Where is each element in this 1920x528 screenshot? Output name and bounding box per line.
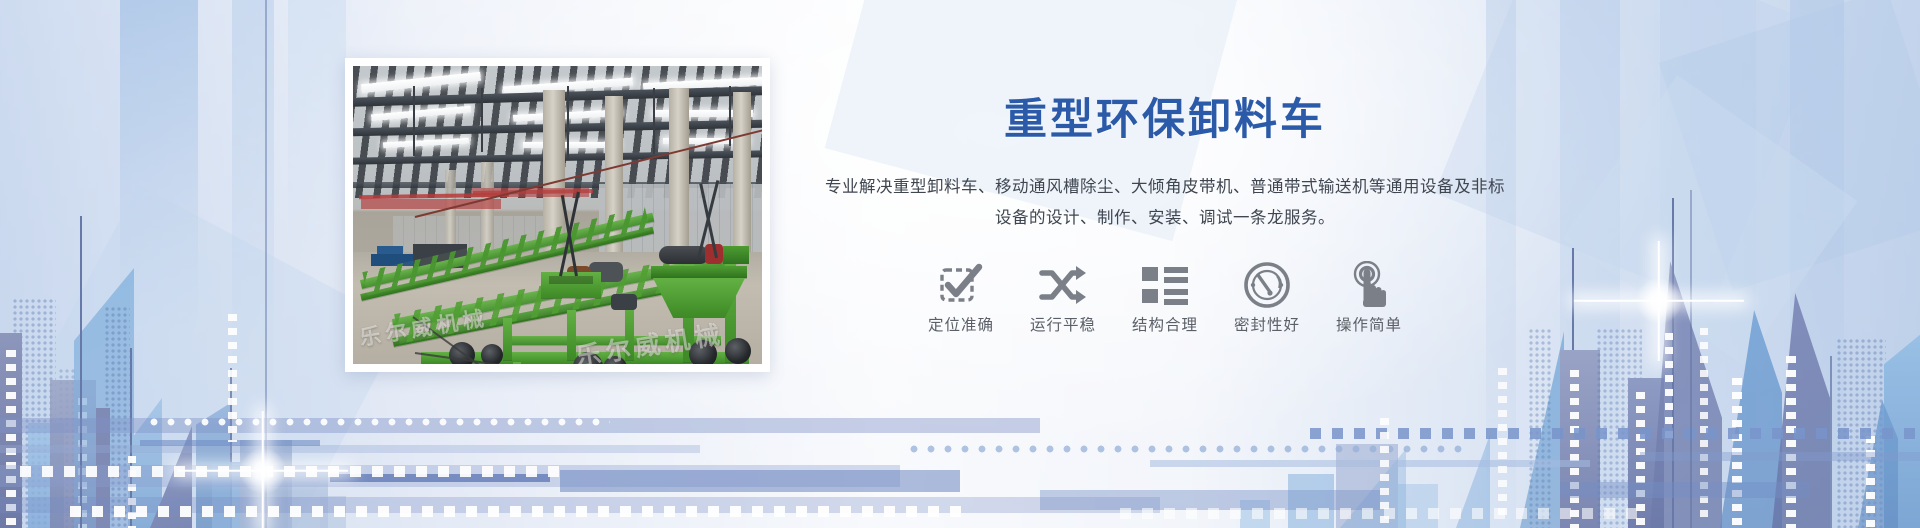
lens-flare-right xyxy=(1658,300,1659,301)
feature-list: 定位准确 运行平稳 xyxy=(795,257,1535,335)
hero-banner: 乐尔威机械 乐尔威机械 重型环保卸料车 专业解决重型卸料车、移动通风槽除尘、大倾… xyxy=(0,0,1920,528)
seal-gauge-icon xyxy=(1227,257,1307,313)
feature-label: 结构合理 xyxy=(1132,317,1198,334)
product-photo: 乐尔威机械 乐尔威机械 xyxy=(353,66,762,364)
feature-label: 操作简单 xyxy=(1336,317,1402,334)
feature-item-1[interactable]: 运行平稳 xyxy=(1023,257,1103,335)
shuffle-arrows-icon xyxy=(1023,257,1103,313)
feature-item-0[interactable]: 定位准确 xyxy=(921,257,1001,335)
feature-label: 定位准确 xyxy=(928,317,994,334)
feature-item-4[interactable]: 操作简单 xyxy=(1329,257,1409,335)
feature-label: 运行平稳 xyxy=(1030,317,1096,334)
page-title: 重型环保卸料车 xyxy=(795,96,1535,144)
checkbox-check-icon xyxy=(921,257,1001,313)
banner-description: 专业解决重型卸料车、移动通风槽除尘、大倾角皮带机、普通带式输送机等通用设备及非标… xyxy=(795,172,1535,233)
feature-item-2[interactable]: 结构合理 xyxy=(1125,257,1205,335)
product-photo-card: 乐尔威机械 乐尔威机械 xyxy=(345,58,770,372)
feature-item-3[interactable]: 密封性好 xyxy=(1227,257,1307,335)
grid-layout-icon xyxy=(1125,257,1205,313)
lens-flare-left xyxy=(262,470,263,471)
banner-content: 重型环保卸料车 专业解决重型卸料车、移动通风槽除尘、大倾角皮带机、普通带式输送机… xyxy=(795,96,1535,335)
feature-label: 密封性好 xyxy=(1234,317,1300,334)
hand-tap-icon xyxy=(1329,257,1409,313)
